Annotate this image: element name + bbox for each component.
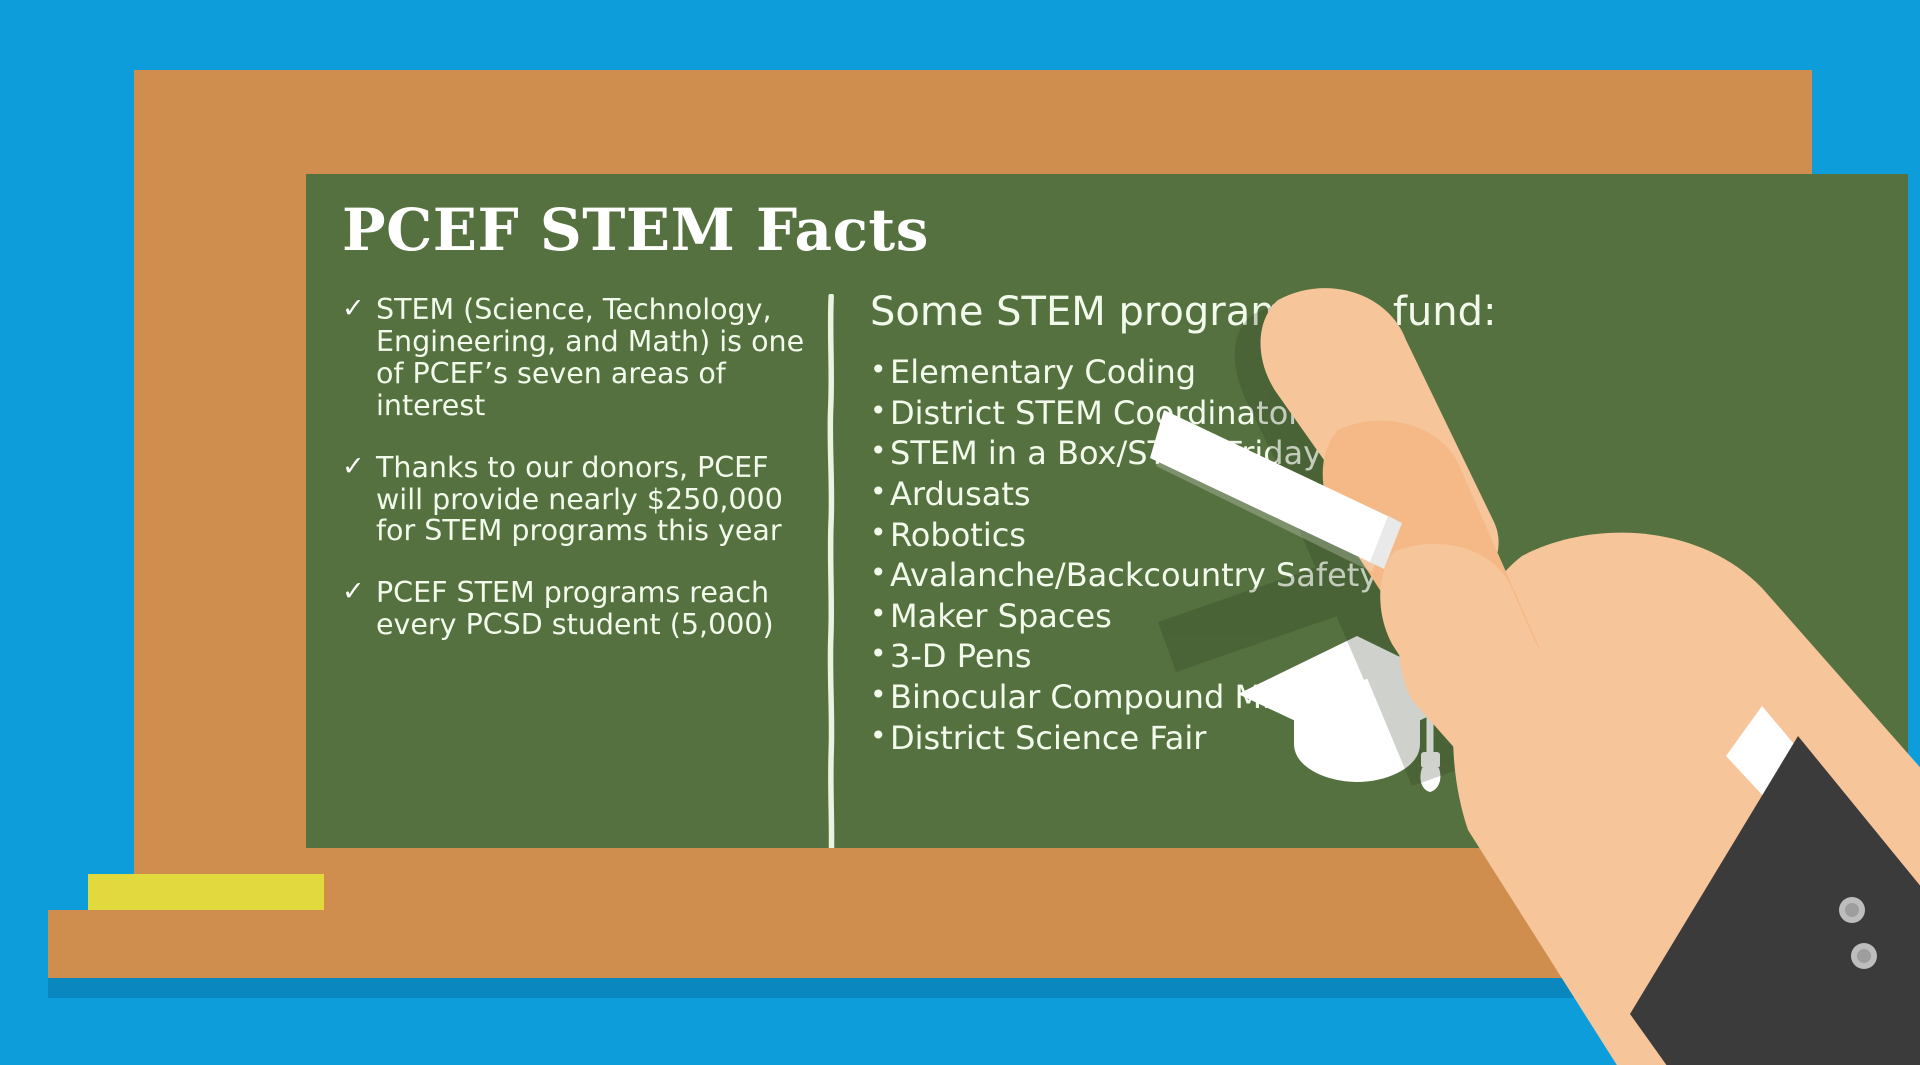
list-item: •District STEM Coordinator <box>870 393 1908 434</box>
bullet-icon: • <box>870 474 890 510</box>
bullet-icon: • <box>870 352 890 388</box>
bullet-icon: • <box>870 718 890 754</box>
program-label: Robotics <box>890 515 1026 556</box>
bullet-icon: • <box>870 677 890 713</box>
board-ledge <box>48 910 1838 978</box>
bullet-icon: • <box>870 433 890 469</box>
program-label: Maker Spaces <box>890 596 1112 637</box>
program-label: STEM in a Box/STEM Fridays <box>890 433 1339 474</box>
infographic-stage: PCEF STEM Facts ✓ STEM (Science, Technol… <box>0 0 1920 1065</box>
fact-text: STEM (Science, Technology, Engineering, … <box>376 294 812 422</box>
facts-column: ✓ STEM (Science, Technology, Engineering… <box>342 290 812 671</box>
chalkboard-surface: PCEF STEM Facts ✓ STEM (Science, Technol… <box>306 174 1908 918</box>
list-item: •Avalanche/Backcountry Safety Class <box>870 555 1908 596</box>
bullet-icon: • <box>870 393 890 429</box>
bullet-icon: • <box>870 515 890 551</box>
programs-heading: Some STEM programs we fund: <box>870 290 1908 334</box>
check-icon: ✓ <box>342 452 376 482</box>
board-ledge-top <box>134 848 1812 910</box>
fact-text: Thanks to our donors, PCEF will provide … <box>376 452 812 548</box>
list-item: •Elementary Coding <box>870 352 1908 393</box>
columns: ✓ STEM (Science, Technology, Engineering… <box>342 290 1908 854</box>
fact-item: ✓ PCEF STEM programs reach every PCSD st… <box>342 577 812 641</box>
program-label: Elementary Coding <box>890 352 1196 393</box>
board-content: PCEF STEM Facts ✓ STEM (Science, Technol… <box>306 174 1908 918</box>
chalkboard-frame: PCEF STEM Facts ✓ STEM (Science, Technol… <box>134 70 1812 882</box>
fact-item: ✓ Thanks to our donors, PCEF will provid… <box>342 452 812 548</box>
program-label: Ardusats <box>890 474 1031 515</box>
bullet-icon: • <box>870 555 890 591</box>
list-item: •STEM in a Box/STEM Fridays <box>870 433 1908 474</box>
program-label: 3-D Pens <box>890 636 1032 677</box>
check-icon: ✓ <box>342 294 376 324</box>
list-item: •Ardusats <box>870 474 1908 515</box>
page-title: PCEF STEM Facts <box>342 196 1908 264</box>
program-label: District STEM Coordinator <box>890 393 1301 434</box>
board-ledge-shadow <box>48 978 1838 998</box>
chalk-divider <box>826 294 836 854</box>
graduation-cap-icon <box>1232 618 1482 798</box>
bullet-icon: • <box>870 596 890 632</box>
check-icon: ✓ <box>342 577 376 607</box>
fact-item: ✓ STEM (Science, Technology, Engineering… <box>342 294 812 422</box>
list-item: •Robotics <box>870 515 1908 556</box>
bullet-icon: • <box>870 636 890 672</box>
fact-text: PCEF STEM programs reach every PCSD stud… <box>376 577 812 641</box>
program-label: Avalanche/Backcountry Safety Class <box>890 555 1473 596</box>
program-label: District Science Fair <box>890 718 1206 759</box>
